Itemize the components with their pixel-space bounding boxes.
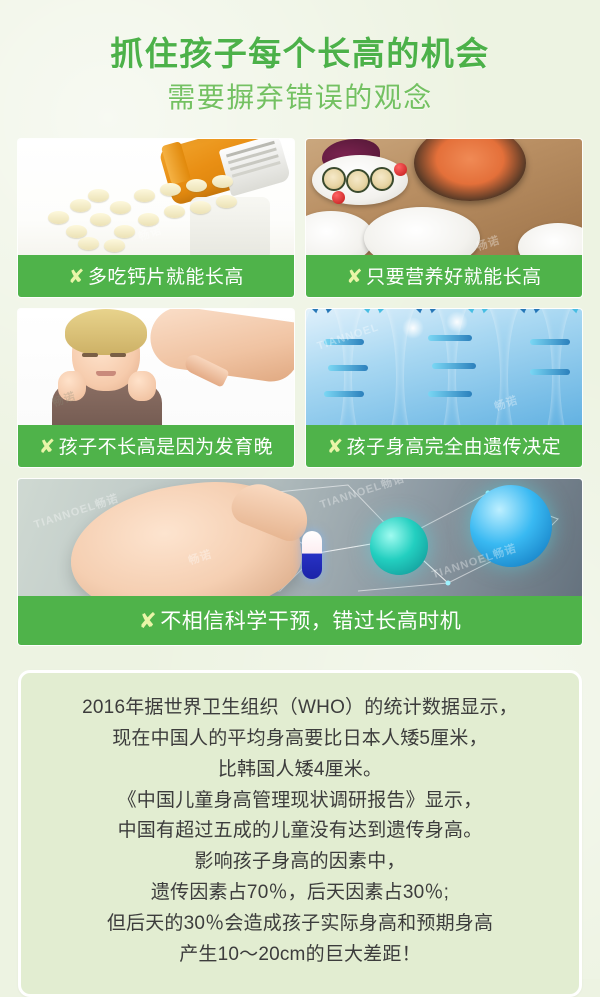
dna-rung-shape — [324, 339, 364, 345]
copy-line: 但后天的30％会造成孩子实际身高和预期身高 — [35, 909, 565, 940]
myth-card-calcium-tablets[interactable]: 畅诺 ✘多吃钙片就能长高 — [18, 139, 294, 297]
photo-calcium-tablets: 畅诺 — [18, 139, 294, 255]
boy-mouth-shape — [96, 371, 116, 376]
myth-card-no-science[interactable]: TIANNOEL畅诺 TIANNOEL畅诺 TIANNOEL畅诺 畅诺 ✘不相信… — [18, 479, 582, 645]
caption-bar: ✘只要营养好就能长高 — [306, 255, 582, 297]
tablet-shape — [138, 213, 159, 226]
molecule-sphere-blue — [470, 485, 552, 567]
caption-text: 孩子不长高是因为发育晚 — [59, 437, 274, 458]
caption-text: 多吃钙片就能长高 — [88, 267, 244, 288]
copy-line: 影响孩子身高的因素中， — [35, 847, 565, 878]
x-icon: ✘ — [68, 265, 85, 289]
photo-late-bloomer: 畅诺 — [18, 309, 294, 425]
myth-card-grid: 畅诺 ✘多吃钙片就能长高 畅诺 ✘只要 — [18, 139, 582, 645]
caption-bar: ✘不相信科学干预，错过长高时机 — [18, 596, 582, 645]
copy-line: 中国有超过五成的儿童没有达到遗传身高。 — [35, 816, 565, 847]
boy-fist-shape — [128, 371, 156, 401]
boy-eye-shape — [82, 353, 98, 357]
photo-good-nutrition: 畅诺 — [306, 139, 582, 255]
myth-card-late-bloomer[interactable]: 畅诺 ✘孩子不长高是因为发育晚 — [18, 309, 294, 467]
copy-line: 2016年据世界卫生组织（WHO）的统计数据显示， — [35, 693, 565, 724]
myth-card-good-nutrition[interactable]: 畅诺 ✘只要营养好就能长高 — [306, 139, 582, 297]
dna-rung-shape — [324, 391, 364, 397]
x-icon: ✘ — [327, 435, 344, 459]
caption-bar: ✘孩子不长高是因为发育晚 — [18, 425, 294, 467]
dna-rung-shape — [428, 335, 472, 341]
dna-rung-shape — [432, 363, 476, 369]
caption-text: 只要营养好就能长高 — [366, 267, 542, 288]
boy-fist-shape — [58, 371, 86, 401]
page-subtitle: 需要摒弃错误的观念 — [18, 81, 582, 115]
tablet-shape — [88, 189, 109, 202]
dna-strand-shape — [508, 309, 552, 425]
plate-shape — [518, 223, 582, 255]
copy-line: 比韩国人矮4厘米。 — [35, 755, 565, 786]
tablet-shape — [104, 239, 125, 252]
x-icon: ✘ — [346, 265, 363, 289]
tablet-shape — [90, 213, 111, 226]
bottle-label-shape — [219, 139, 292, 197]
copy-line: 现在中国人的平均身高要比日本人矮5厘米， — [35, 724, 565, 755]
dna-rung-shape — [428, 391, 472, 397]
tablet-shape — [114, 225, 135, 238]
tablet-shape — [70, 199, 91, 212]
x-icon: ✘ — [139, 609, 157, 634]
caption-bar: ✘孩子身高完全由遗传决定 — [306, 425, 582, 467]
boy-eye-shape — [110, 353, 126, 357]
capsule-shape — [302, 531, 322, 579]
caption-bar: ✘多吃钙片就能长高 — [18, 255, 294, 297]
photo-genetics-only: TIANNOEL 畅诺 — [306, 309, 582, 425]
myth-card-genetics-only[interactable]: TIANNOEL 畅诺 ✘孩子身高完全由遗传决定 — [306, 309, 582, 467]
copy-line: 《中国儿童身高管理现状调研报告》显示， — [35, 786, 565, 817]
x-icon: ✘ — [39, 435, 56, 459]
plate-shape — [364, 207, 480, 255]
tablet-shape — [48, 211, 69, 224]
copy-line: 产生10～20cm的巨大差距！ — [35, 940, 565, 971]
tablet-shape — [110, 201, 131, 214]
boy-hair-shape — [65, 309, 147, 355]
dna-rung-shape — [530, 339, 570, 345]
heading-block: 抓住孩子每个长高的机会 需要摒弃错误的观念 — [18, 0, 582, 115]
photo-no-science: TIANNOEL畅诺 TIANNOEL畅诺 TIANNOEL畅诺 畅诺 — [18, 479, 582, 596]
poster-page: 抓住孩子每个长高的机会 需要摒弃错误的观念 — [0, 0, 600, 997]
caption-text: 不相信科学干预，错过长高时机 — [160, 610, 461, 633]
dna-strand-shape — [560, 309, 582, 425]
page-title: 抓住孩子每个长高的机会 — [18, 34, 582, 74]
dna-rung-shape — [530, 369, 570, 375]
copy-line: 遗传因素占70％，后天因素占30％; — [35, 878, 565, 909]
dna-rung-shape — [328, 365, 368, 371]
caption-text: 孩子身高完全由遗传决定 — [347, 437, 562, 458]
tablet-shape — [78, 237, 99, 250]
statistics-copy-box: 2016年据世界卫生组织（WHO）的统计数据显示， 现在中国人的平均身高要比日本… — [18, 670, 582, 997]
tablet-shape — [134, 189, 155, 202]
molecule-sphere-teal — [370, 517, 428, 575]
tablet-shape — [164, 205, 185, 218]
shrimp-pan-shape — [414, 139, 526, 201]
